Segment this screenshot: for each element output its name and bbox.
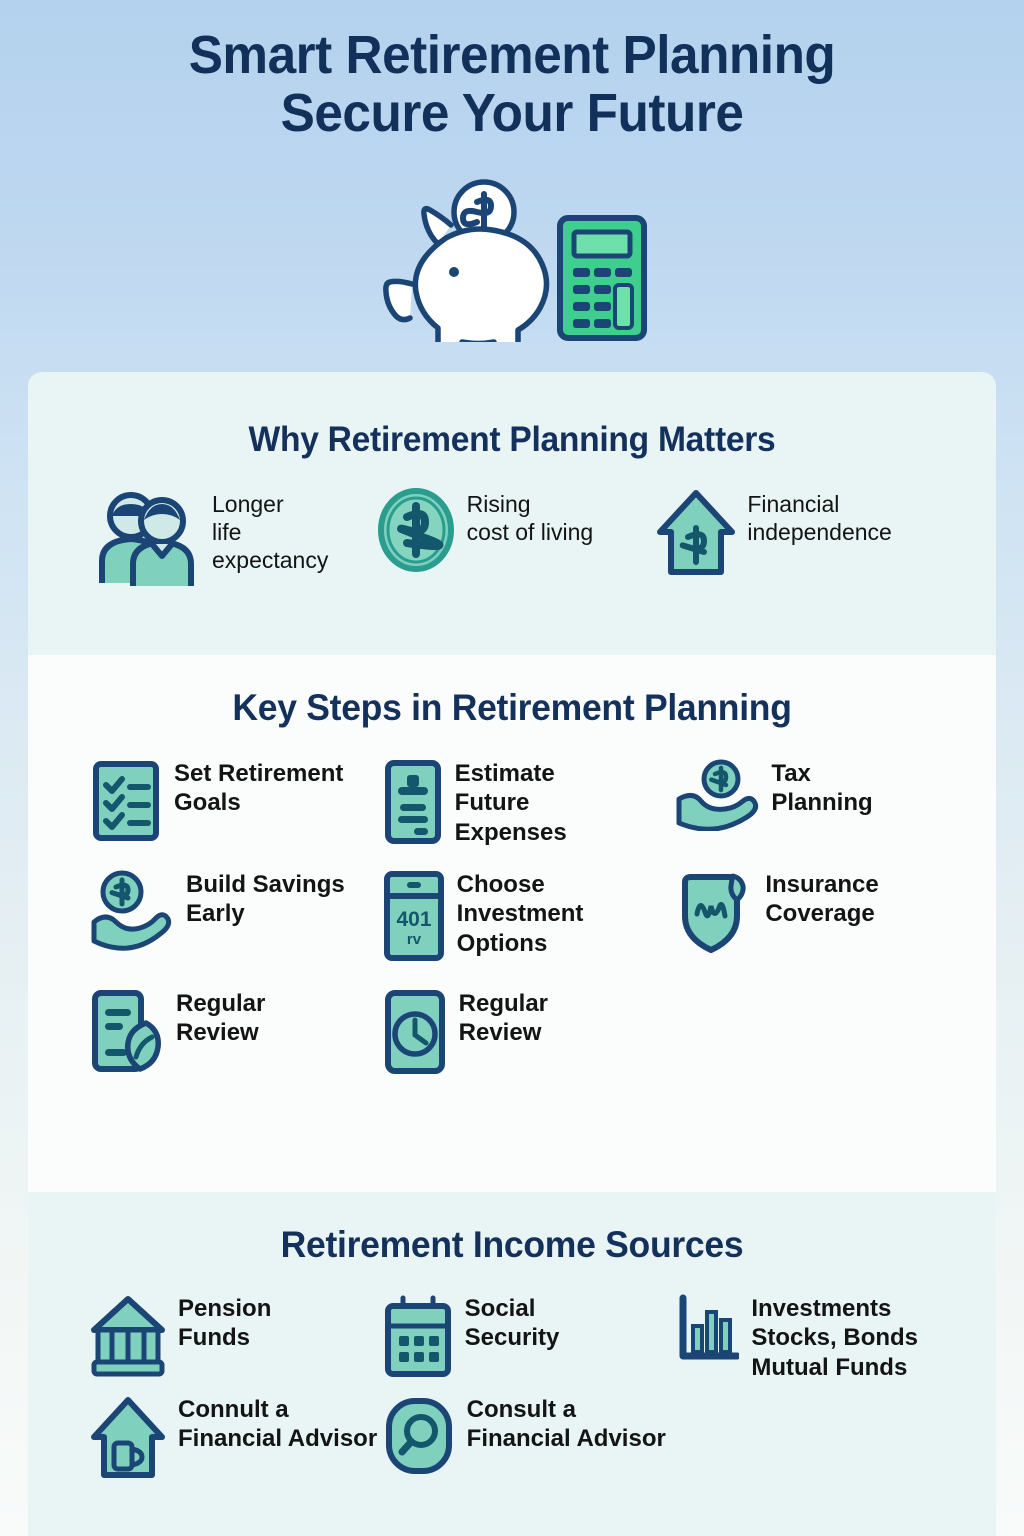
- item-label: Insurance Coverage: [765, 868, 878, 929]
- item-label: Consult a Financial Advisor: [467, 1393, 666, 1454]
- steps-row-1: Set Retirement Goals Estimate: [28, 757, 996, 850]
- section-retirement-income-sources: Retirement Income Sources Pension Funds: [28, 1192, 996, 1536]
- svg-text:401: 401: [396, 908, 431, 931]
- item-label: Investments Stocks, Bonds Mutual Funds: [751, 1292, 918, 1382]
- item-pension-funds: Pension Funds: [90, 1292, 383, 1383]
- title-line-2: Secure Your Future: [26, 84, 999, 142]
- hand-coin-tax-icon: [675, 759, 759, 836]
- calculator-icon: [556, 214, 648, 342]
- hero-banner: Smart Retirement Planning Secure Your Fu…: [0, 0, 1024, 342]
- income-row-1: Pension Funds: [28, 1292, 996, 1383]
- steps-row-2: Build Savings Early 401 rv Choose Invest…: [28, 868, 996, 967]
- item-label: Regular Review: [176, 987, 265, 1048]
- document-estimate-icon: [383, 759, 443, 850]
- item-label: Tax Planning: [771, 757, 872, 818]
- couple-people-icon: [96, 488, 200, 593]
- item-choose-investment-options: 401 rv Choose Investment Options: [383, 868, 676, 967]
- item-rising-cost-of-living: Rising cost of living: [377, 486, 654, 593]
- item-set-retirement-goals: Set Retirement Goals: [90, 757, 383, 850]
- section-heading-why: Why Retirement Planning Matters: [47, 372, 976, 460]
- item-label: Financial independence: [747, 486, 892, 546]
- why-items-grid: Longer life expectancy Rising cost of li…: [28, 486, 996, 593]
- item-regular-review-document: Regular Review: [90, 987, 383, 1080]
- house-advisor-icon: [90, 1395, 166, 1484]
- item-label: Set Retirement Goals: [174, 757, 343, 818]
- item-longer-life-expectancy: Longer life expectancy: [96, 486, 373, 593]
- section-heading-income: Retirement Income Sources: [47, 1192, 976, 1266]
- item-label: Pension Funds: [178, 1292, 271, 1353]
- item-financial-independence: Financial independence: [657, 486, 934, 593]
- item-tax-planning: Tax Planning: [675, 757, 968, 850]
- hand-savings-coin-icon: [90, 870, 174, 961]
- section-heading-steps: Key Steps in Retirement Planning: [47, 655, 976, 729]
- magnifier-search-icon: [383, 1395, 455, 1482]
- calendar-icon: [383, 1294, 453, 1383]
- item-label: Regular Review: [459, 987, 548, 1048]
- item-label: Social Security: [465, 1292, 560, 1353]
- bar-chart-icon: [675, 1294, 739, 1369]
- checklist-icon: [90, 759, 162, 848]
- document-review-icon: [90, 989, 164, 1078]
- item-consult-financial-advisor-search: Consult a Financial Advisor: [383, 1393, 676, 1484]
- item-insurance-coverage: Insurance Coverage: [675, 868, 968, 967]
- title-line-1: Smart Retirement Planning: [189, 25, 836, 85]
- hero-illustration: [0, 157, 1024, 342]
- item-label: Longer life expectancy: [212, 486, 328, 574]
- item-consult-financial-advisor-house: Connult a Financial Advisor: [90, 1393, 383, 1484]
- steps-row-3-empty: [675, 987, 968, 1080]
- bank-building-icon: [90, 1294, 166, 1383]
- section-why-retirement-planning-matters: Why Retirement Planning Matters: [28, 372, 996, 655]
- item-label: Build Savings Early: [186, 868, 345, 929]
- page-title: Smart Retirement Planning Secure Your Fu…: [26, 26, 999, 143]
- item-label: Choose Investment Options: [457, 868, 584, 958]
- dollar-coin-icon: [377, 488, 455, 577]
- income-row-2: Connult a Financial Advisor Consult a Fi…: [28, 1393, 996, 1484]
- clock-review-icon: [383, 989, 447, 1080]
- income-row-2-empty: [675, 1393, 968, 1484]
- house-dollar-icon: [657, 488, 735, 583]
- item-investments: Investments Stocks, Bonds Mutual Funds: [675, 1292, 968, 1383]
- svg-text:rv: rv: [407, 931, 422, 948]
- item-regular-review-clock: Regular Review: [383, 987, 676, 1080]
- piggy-bank-icon: [376, 172, 554, 342]
- item-build-savings-early: Build Savings Early: [90, 868, 383, 967]
- item-label: Connult a Financial Advisor: [178, 1393, 377, 1454]
- item-estimate-future-expenses: Estimate Future Expenses: [383, 757, 676, 850]
- item-social-security: Social Security: [383, 1292, 676, 1383]
- section-key-steps-in-retirement-planning: Key Steps in Retirement Planning Set Ret…: [28, 655, 996, 1192]
- 401k-account-icon: 401 rv: [383, 870, 445, 967]
- steps-row-3: Regular Review Regular Review: [28, 987, 996, 1080]
- item-label: Rising cost of living: [467, 486, 594, 546]
- shield-insurance-icon: [675, 870, 753, 963]
- item-label: Estimate Future Expenses: [455, 757, 567, 847]
